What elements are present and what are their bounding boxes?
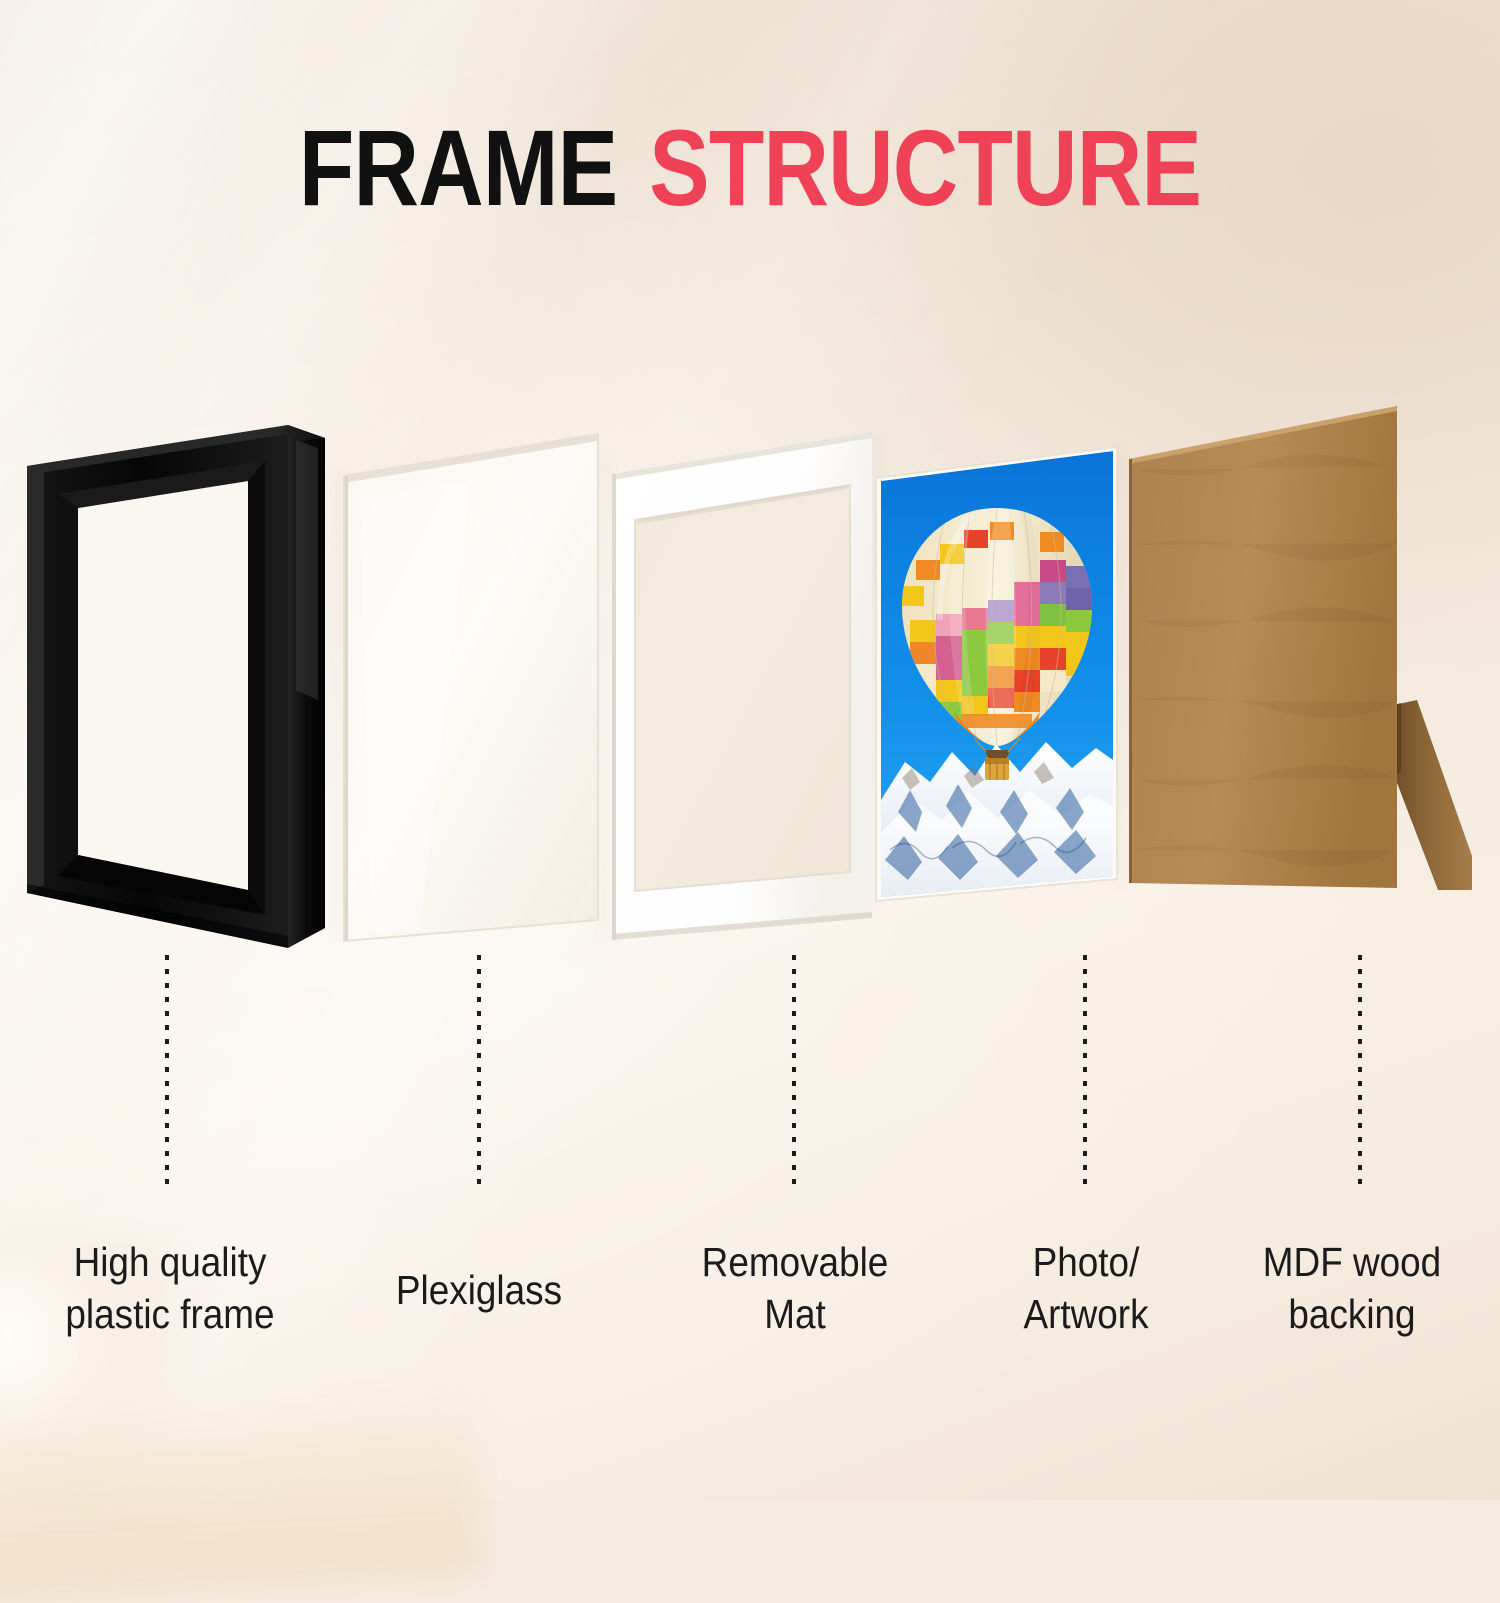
- photo-image: [881, 451, 1113, 897]
- layer-plastic-frame[interactable]: [27, 425, 325, 948]
- layer-labels: High quality plastic frame Plexiglass Re…: [0, 1236, 1500, 1376]
- label-removable-mat: Removable Mat: [647, 1236, 944, 1341]
- mdf-kickstand-leg: [1394, 700, 1472, 890]
- frame-highlight-left: [27, 466, 44, 893]
- frame-window-tint: [78, 481, 248, 890]
- label-photo-artwork: Photo/ Artwork: [964, 1236, 1209, 1341]
- mat-left-edge: [612, 474, 616, 940]
- leader-lines: [167, 955, 1360, 1192]
- label-plexiglass: Plexiglass: [341, 1264, 616, 1316]
- mdf-left-edge: [1129, 459, 1132, 883]
- frame-bevel-right: [248, 461, 265, 915]
- layer-removable-mat[interactable]: [612, 432, 872, 940]
- mat-window-opening: [635, 485, 850, 891]
- mdf-grain: [1129, 400, 1399, 895]
- layer-photo-artwork[interactable]: [876, 447, 1117, 901]
- frame-bevel-left: [58, 494, 78, 876]
- label-mdf-wood-backing: MDF wood backing: [1221, 1236, 1484, 1341]
- illustration-canvas: FRAMESTRUCTURE: [0, 0, 1500, 1500]
- layer-plexiglass[interactable]: [344, 434, 598, 941]
- layer-mdf-wood-backing[interactable]: [1129, 400, 1472, 895]
- frame-sheen: [296, 440, 318, 700]
- label-plastic-frame: High quality plastic frame: [17, 1236, 323, 1341]
